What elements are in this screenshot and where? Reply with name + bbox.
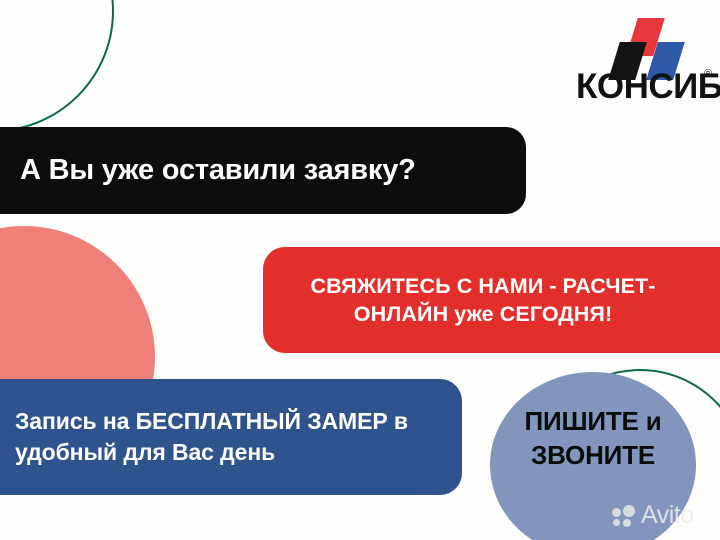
booking-banner-text: Запись на БЕСПЛАТНЫЙ ЗАМЕР в удобный для… [15,406,462,468]
green-ring-decoration-top-left [0,0,114,132]
question-banner-text: А Вы уже оставили заявку? [20,155,416,187]
brand-logo: КОНСИБ ® [566,16,712,102]
avito-dots-icon [612,505,638,527]
booking-banner: Запись на БЕСПЛАТНЫЙ ЗАМЕР в удобный для… [0,379,462,495]
promo-poster: КОНСИБ ® А Вы уже оставили заявку? СВЯЖИ… [0,0,720,540]
three-parallelograms-icon [566,16,712,66]
avito-watermark-label: Avito [641,503,694,528]
avito-watermark: Avito [612,503,694,528]
question-banner: А Вы уже оставили заявку? [0,127,526,214]
brand-wordmark: КОНСИБ [576,69,720,104]
contact-banner-text: СВЯЖИТЕСЬ С НАМИ - РАСЧЕТ-ОНЛАЙН уже СЕГ… [283,272,683,329]
registered-trademark-symbol: ® [704,68,712,80]
call-us-text: ПИШИТЕ и ЗВОНИТЕ [490,405,696,473]
contact-banner: СВЯЖИТЕСЬ С НАМИ - РАСЧЕТ-ОНЛАЙН уже СЕГ… [263,247,720,353]
